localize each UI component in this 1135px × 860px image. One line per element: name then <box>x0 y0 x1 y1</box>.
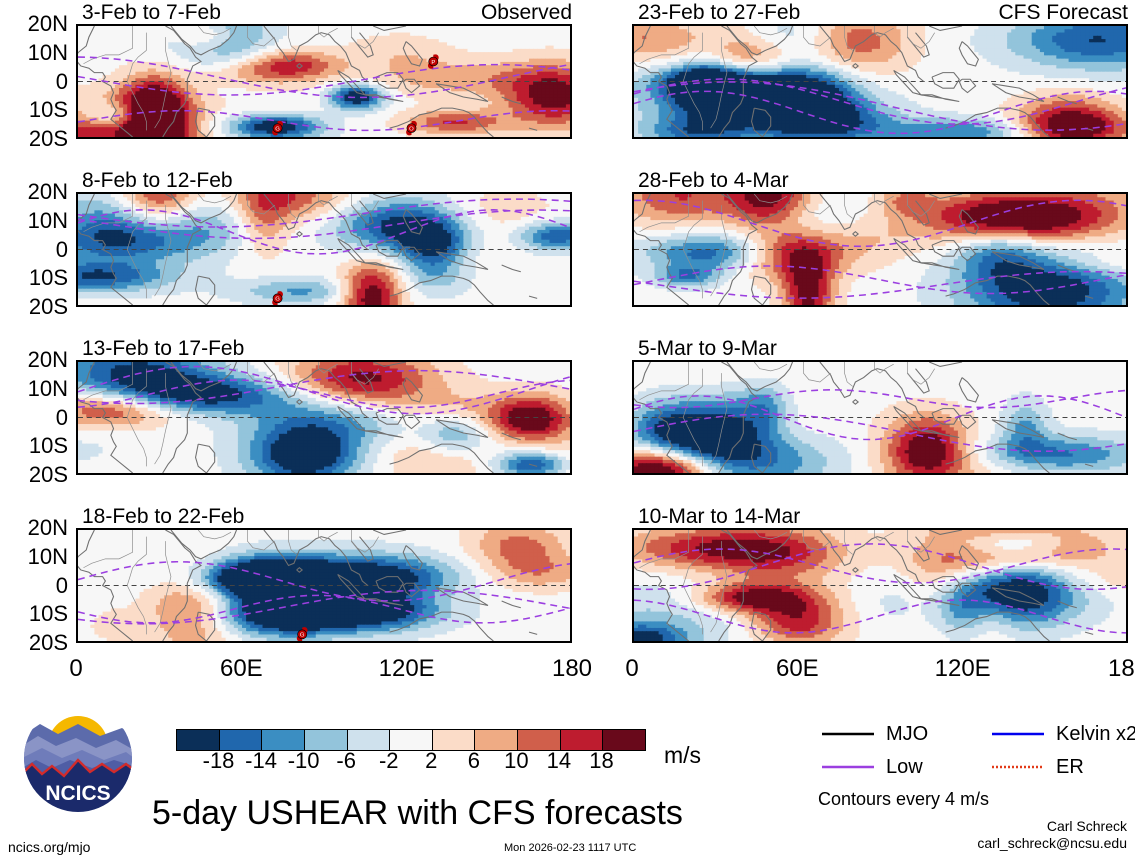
colorbar-swatch-4 <box>347 730 390 750</box>
colorbar-swatch-6 <box>432 730 475 750</box>
y-tick-label: 20N <box>4 181 68 203</box>
y-tick-label: 20N <box>4 13 68 35</box>
timestamp: Mon 2026-02-23 1117 UTC <box>504 843 636 854</box>
colorbar-swatch-8 <box>517 730 560 750</box>
ncics-logo: NCICS <box>22 702 134 814</box>
legend-item-kelvin-x2: Kelvin x2 <box>990 723 1135 744</box>
y-tick-label: 0 <box>4 407 68 429</box>
legend-swatch-icon <box>990 727 1046 741</box>
svg-text:P: P <box>431 60 435 66</box>
x-tick-label: 180 <box>1083 657 1135 681</box>
panel-title-1: 8-Feb to 12-Feb <box>82 170 233 191</box>
map-panel-6[interactable] <box>632 360 1128 475</box>
map-panel-2[interactable] <box>76 360 572 475</box>
colorbar-swatch-5 <box>389 730 432 750</box>
legend-item-er: ER <box>990 756 1084 777</box>
x-tick-label: 120E <box>362 657 452 681</box>
panel-title-2: 13-Feb to 17-Feb <box>82 338 244 359</box>
x-tick-label: 120E <box>918 657 1008 681</box>
column-header-left: Observed <box>76 2 572 23</box>
panel-title-7: 10-Mar to 14-Mar <box>638 506 800 527</box>
author-name: Carl Schreck <box>935 818 1127 835</box>
panel-title-6: 5-Mar to 9-Mar <box>638 338 777 359</box>
colorbar-swatch-7 <box>474 730 517 750</box>
y-tick-label: 0 <box>4 239 68 261</box>
y-tick-label: 10S <box>4 267 68 289</box>
y-tick-label: 20N <box>4 349 68 371</box>
panel-title-5: 28-Feb to 4-Mar <box>638 170 789 191</box>
y-tick-label: 0 <box>4 71 68 93</box>
y-tick-label: 20S <box>4 296 68 318</box>
author-email[interactable]: carl_schreck@ncsu.edu <box>935 835 1127 852</box>
colorbar-swatch-10 <box>602 730 645 750</box>
legend-item-low: Low <box>820 756 923 777</box>
y-tick-label: 10S <box>4 435 68 457</box>
map-panel-5[interactable] <box>632 192 1128 307</box>
map-panel-1[interactable]: G <box>76 192 572 307</box>
map-panel-4[interactable] <box>632 24 1128 139</box>
svg-text:O: O <box>409 126 414 132</box>
map-panel-3[interactable]: G <box>76 528 572 643</box>
main-title: 5-day USHEAR with CFS forecasts <box>152 796 683 830</box>
colorbar-swatch-1 <box>219 730 262 750</box>
colorbar-swatch-9 <box>560 730 603 750</box>
legend-item-mjo: MJO <box>820 723 928 744</box>
author-credit: Carl Schreck carl_schreck@ncsu.edu <box>935 818 1127 852</box>
site-url[interactable]: ncics.org/mjo <box>8 840 90 854</box>
x-tick-label: 0 <box>31 657 121 681</box>
colorbar-swatch-3 <box>304 730 347 750</box>
logo-text: NCICS <box>45 782 110 805</box>
y-tick-label: 10S <box>4 99 68 121</box>
map-panel-7[interactable] <box>632 528 1128 643</box>
colorbar-unit: m/s <box>664 744 701 767</box>
y-tick-label: 10N <box>4 378 68 400</box>
y-tick-label: 10S <box>4 603 68 625</box>
column-header-right: CFS Forecast <box>632 2 1128 23</box>
legend-swatch-icon <box>820 760 876 774</box>
panel-title-3: 18-Feb to 22-Feb <box>82 506 244 527</box>
legend-swatch-icon <box>990 760 1046 774</box>
y-tick-label: 10N <box>4 42 68 64</box>
y-tick-label: 10N <box>4 546 68 568</box>
panel-grid: 3-Feb to 7-FebObserved20N10N010S20SPGO8-… <box>0 0 1135 690</box>
x-tick-label: 60E <box>752 657 842 681</box>
svg-text:G: G <box>275 126 280 132</box>
colorbar-swatch-0 <box>177 730 219 750</box>
colorbar-swatch-2 <box>261 730 304 750</box>
x-tick-label: 0 <box>587 657 677 681</box>
y-tick-label: 10N <box>4 210 68 232</box>
y-tick-label: 20N <box>4 517 68 539</box>
x-tick-label: 60E <box>196 657 286 681</box>
y-tick-label: 20S <box>4 464 68 486</box>
colorbar-tick-label: 18 <box>571 750 631 772</box>
y-tick-label: 20S <box>4 128 68 150</box>
y-tick-label: 0 <box>4 575 68 597</box>
y-tick-label: 20S <box>4 632 68 654</box>
map-panel-0[interactable]: PGO <box>76 24 572 139</box>
contours-note: Contours every 4 m/s <box>818 790 989 808</box>
legend-swatch-icon <box>820 727 876 741</box>
